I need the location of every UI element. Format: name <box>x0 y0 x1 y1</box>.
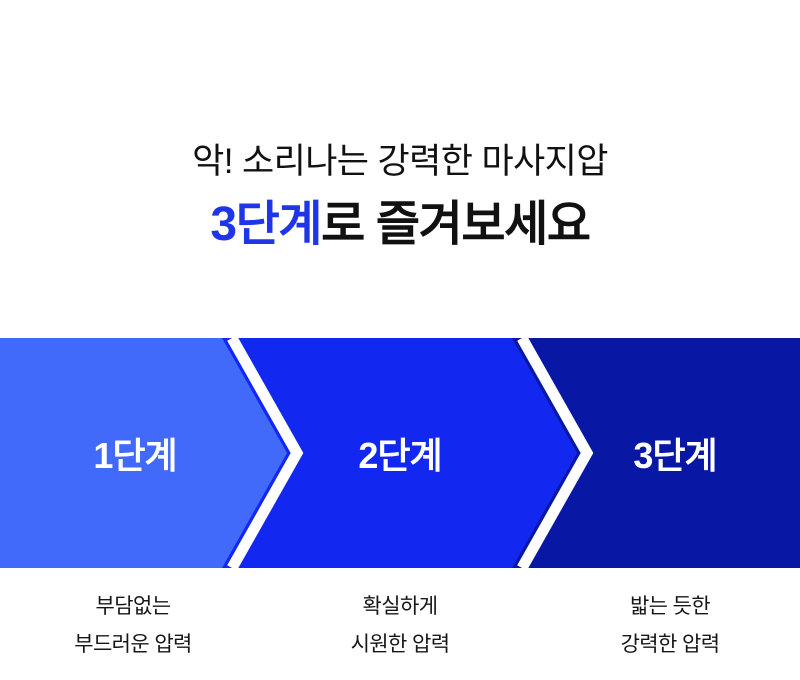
headline-rest-text: 로 즐겨보세요 <box>321 198 590 251</box>
stage-3-caption-line-1: 밟는 듯한 <box>550 588 790 626</box>
stage-1-caption-line-1: 부담없는 <box>13 588 253 626</box>
stage-2-caption-line-1: 확실하게 <box>285 588 515 626</box>
headline-accent-text: 3단계 <box>210 198 321 251</box>
stage-3-caption-line-2: 강력한 압력 <box>550 626 790 664</box>
stage-2-caption: 확실하게 시원한 압력 <box>285 588 515 664</box>
stage-3-caption: 밟는 듯한 강력한 압력 <box>550 588 790 664</box>
promo-page: { "page": { "background": "#ffffff", "wi… <box>0 0 800 680</box>
page-title: 3단계로 즐겨보세요 <box>0 196 800 254</box>
stage-banner: 1단계 2단계 3단계 <box>0 338 800 568</box>
stage-chevron-graphic <box>0 338 800 568</box>
page-heading: 악! 소리나는 강력한 마사지압 3단계로 즐겨보세요 <box>0 140 800 254</box>
headline-subline: 악! 소리나는 강력한 마사지압 <box>0 140 800 184</box>
stage-1-caption-line-2: 부드러운 압력 <box>13 626 253 664</box>
stage-caption-row: 부담없는 부드러운 압력 확실하게 시원한 압력 밟는 듯한 강력한 압력 <box>0 588 800 680</box>
stage-2-caption-line-2: 시원한 압력 <box>285 626 515 664</box>
stage-1-caption: 부담없는 부드러운 압력 <box>13 588 253 664</box>
